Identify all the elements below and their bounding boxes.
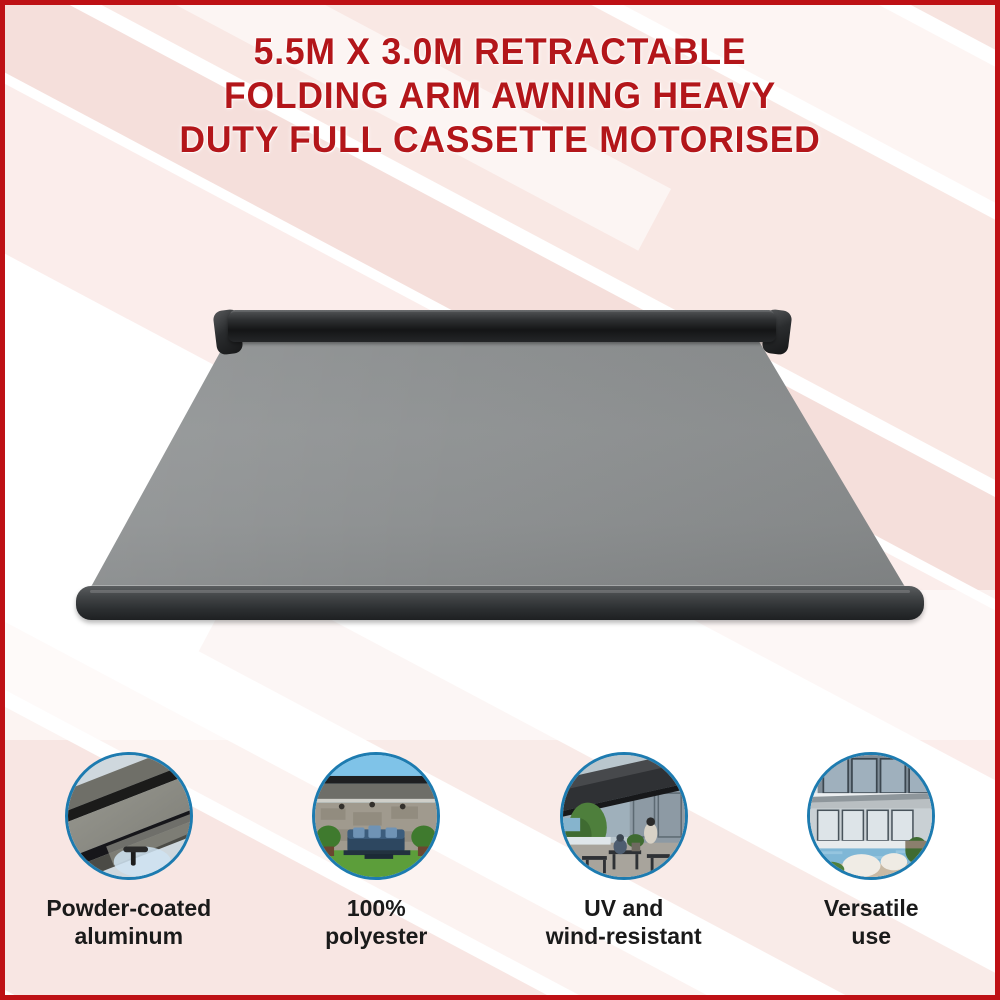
feature-label: UV and wind-resistant <box>509 894 739 950</box>
feature-label: 100% polyester <box>261 894 491 950</box>
product-title: 5.5M X 3.0M RETRACTABLE FOLDING ARM AWNI… <box>0 30 1000 162</box>
aluminum-closeup-icon <box>65 752 193 880</box>
patio-sofa-icon <box>312 752 440 880</box>
feature-item: UV and wind-resistant <box>509 752 739 950</box>
product-poster: 5.5M X 3.0M RETRACTABLE FOLDING ARM AWNI… <box>0 0 1000 1000</box>
terrace-awning-icon <box>560 752 688 880</box>
modern-house-icon <box>807 752 935 880</box>
awning-fabric <box>70 328 930 600</box>
title-line-1: 5.5M X 3.0M RETRACTABLE <box>20 30 980 74</box>
feature-label: Powder-coated aluminum <box>14 894 244 950</box>
feature-badge-row: Powder-coated aluminum <box>5 752 995 982</box>
product-image-awning <box>70 300 930 630</box>
feature-label: Versatile use <box>756 894 986 950</box>
awning-front-bar <box>76 586 924 620</box>
feature-item: Powder-coated aluminum <box>14 752 244 950</box>
feature-item: 100% polyester <box>261 752 491 950</box>
title-line-2: FOLDING ARM AWNING HEAVY <box>20 74 980 118</box>
feature-item: Versatile use <box>756 752 986 950</box>
title-line-3: DUTY FULL CASSETTE MOTORISED <box>20 118 980 162</box>
awning-cassette-bar <box>228 312 776 342</box>
